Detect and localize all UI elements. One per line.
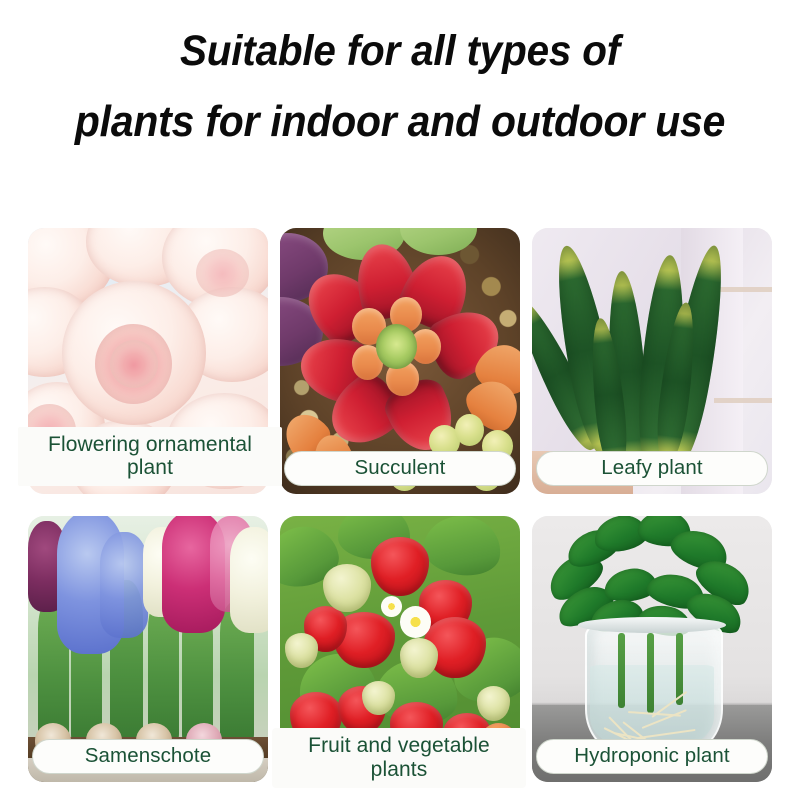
plant-card-leafy-plant[interactable]: Leafy plant: [532, 228, 772, 494]
page-title: Suitable for all types of plants for ind…: [0, 30, 800, 145]
plant-card-fruit-and-vegetable-plants[interactable]: Fruit and vegetable plants: [280, 516, 520, 782]
page-title-line-1: Suitable for all types of: [24, 30, 776, 73]
plant-card-hydroponic-plant[interactable]: Hydroponic plant: [532, 516, 772, 782]
plant-card-succulent[interactable]: Succulent: [280, 228, 520, 494]
plant-card-label-succulent: Succulent: [284, 451, 516, 486]
plant-card-label-hydroponic-plant: Hydroponic plant: [536, 739, 768, 774]
plant-type-grid: Flowering ornamental plant: [28, 228, 772, 782]
plant-card-label-samenschote: Samenschote: [32, 739, 264, 774]
vase-rim: [578, 617, 727, 633]
plant-card-samenschote[interactable]: Samenschote: [28, 516, 268, 782]
plant-card-flowering-ornamental-plant[interactable]: Flowering ornamental plant: [28, 228, 268, 494]
plant-card-label-leafy-plant: Leafy plant: [536, 451, 768, 486]
page-title-line-2: plants for indoor and outdoor use: [24, 101, 776, 145]
plant-card-label-flowering-ornamental-plant: Flowering ornamental plant: [18, 427, 282, 486]
plant-card-label-fruit-and-vegetable-plants: Fruit and vegetable plants: [272, 728, 526, 788]
